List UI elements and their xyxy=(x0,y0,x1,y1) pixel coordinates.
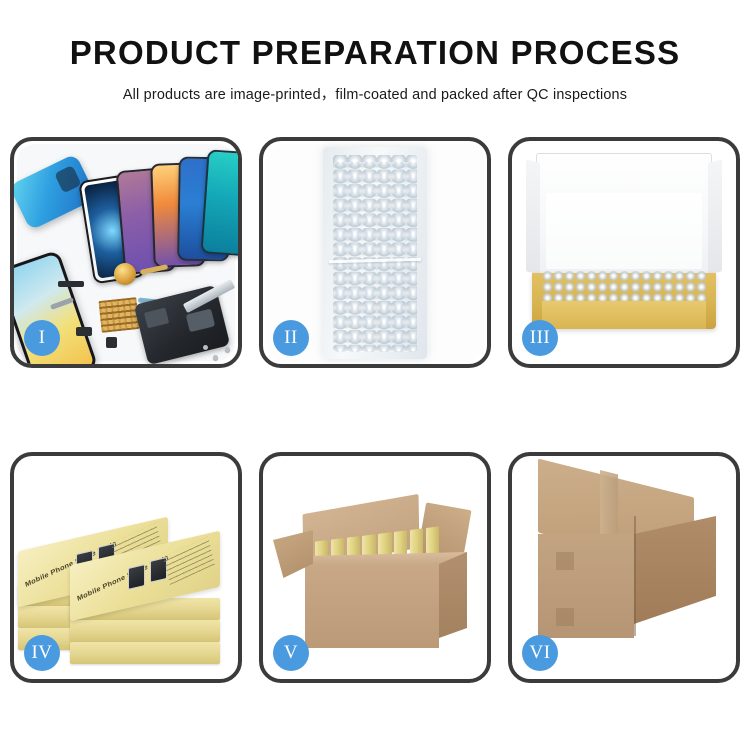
screen-print-icon xyxy=(128,564,145,590)
page-header: PRODUCT PREPARATION PROCESS All products… xyxy=(0,0,750,104)
phone-teal-icon xyxy=(200,149,238,256)
process-step-panel-4[interactable]: Mobile Phone Spare Parts Mobile Phone Sp… xyxy=(10,452,242,683)
carton-side-panel xyxy=(439,552,467,638)
chip-icon xyxy=(106,337,117,348)
speaker-coil-icon xyxy=(114,263,136,285)
page-subtitle: All products are image-printed，film-coat… xyxy=(0,83,750,104)
process-step-panel-3[interactable]: III xyxy=(508,137,740,368)
process-step-panel-1[interactable]: I xyxy=(10,137,242,368)
bubble-wrap-overlay-icon xyxy=(333,162,417,352)
screw-icon xyxy=(213,355,218,360)
connector-pins-icon xyxy=(98,297,139,333)
step-badge-6: VI xyxy=(522,635,558,671)
spec-lines-icon xyxy=(163,537,215,585)
stacked-box xyxy=(70,642,220,664)
screw-icon xyxy=(203,345,208,350)
carton-tab-icon xyxy=(556,552,574,570)
step-badge-3: III xyxy=(522,320,558,356)
chip-icon xyxy=(58,281,84,287)
foam-sheet-icon xyxy=(546,193,702,269)
carton-tab-icon xyxy=(556,608,574,626)
carton-front-panel xyxy=(305,564,439,648)
screw-icon xyxy=(225,347,230,352)
stacked-box xyxy=(70,620,220,642)
process-step-panel-2[interactable]: II xyxy=(259,137,491,368)
step-badge-2: II xyxy=(273,320,309,356)
carton-edge-seam xyxy=(634,516,636,636)
bubble-wrapped-product-icon xyxy=(542,271,706,303)
carton-left-panel xyxy=(538,534,634,638)
page-title: PRODUCT PREPARATION PROCESS xyxy=(0,36,750,71)
tray-front-face xyxy=(542,301,706,329)
phone-fan-group xyxy=(84,155,238,271)
process-step-panel-5[interactable]: V xyxy=(259,452,491,683)
chip-icon xyxy=(76,327,92,336)
product-preparation-page: PRODUCT PREPARATION PROCESS All products… xyxy=(0,0,750,750)
step-badge-4: IV xyxy=(24,635,60,671)
step-badge-5: V xyxy=(273,635,309,671)
step-badge-1: I xyxy=(24,320,60,356)
process-steps-grid: I II III xyxy=(10,137,740,683)
process-step-panel-6[interactable]: VI xyxy=(508,452,740,683)
